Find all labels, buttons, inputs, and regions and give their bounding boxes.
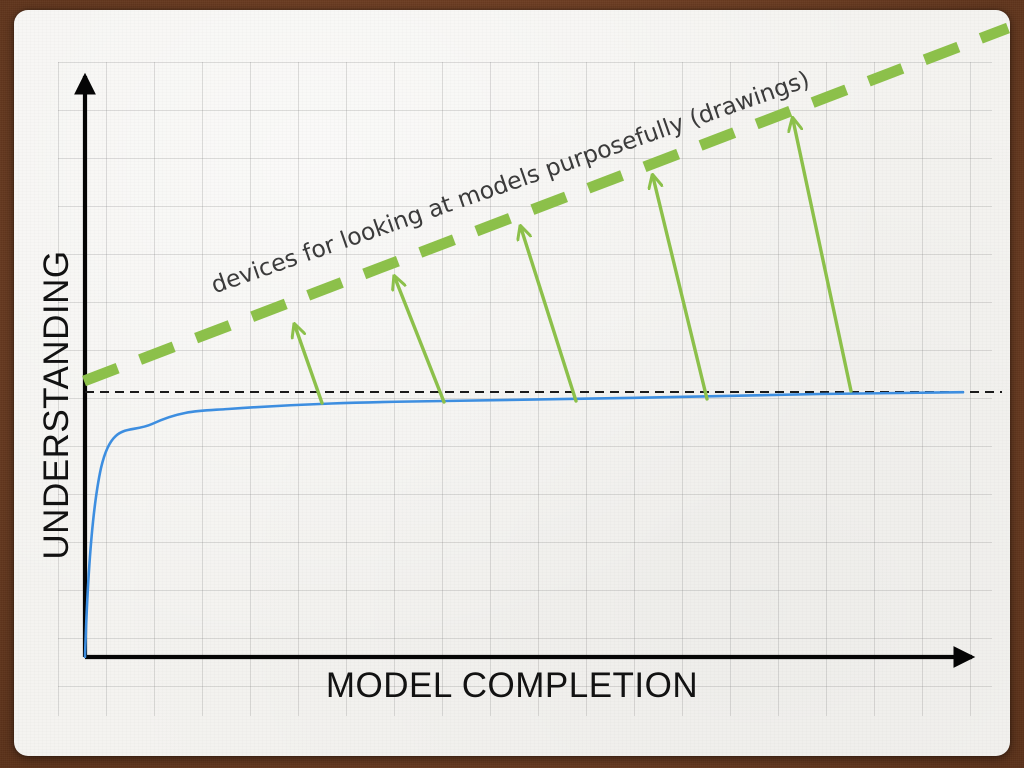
understanding-curve-blue — [85, 392, 963, 657]
chart-plot — [0, 0, 1024, 768]
slide-canvas: devices for looking at models purposeful… — [0, 0, 1024, 768]
gap-arrow-5 — [793, 120, 851, 391]
x-axis-title: MODEL COMPLETION — [0, 666, 1024, 706]
gap-arrow-3 — [521, 228, 576, 401]
gap-arrow-2 — [395, 278, 444, 402]
devices-trend-line-green — [84, 28, 1008, 381]
y-axis-title: UNDERSTANDING — [37, 195, 77, 615]
gap-arrow-4 — [653, 177, 707, 399]
